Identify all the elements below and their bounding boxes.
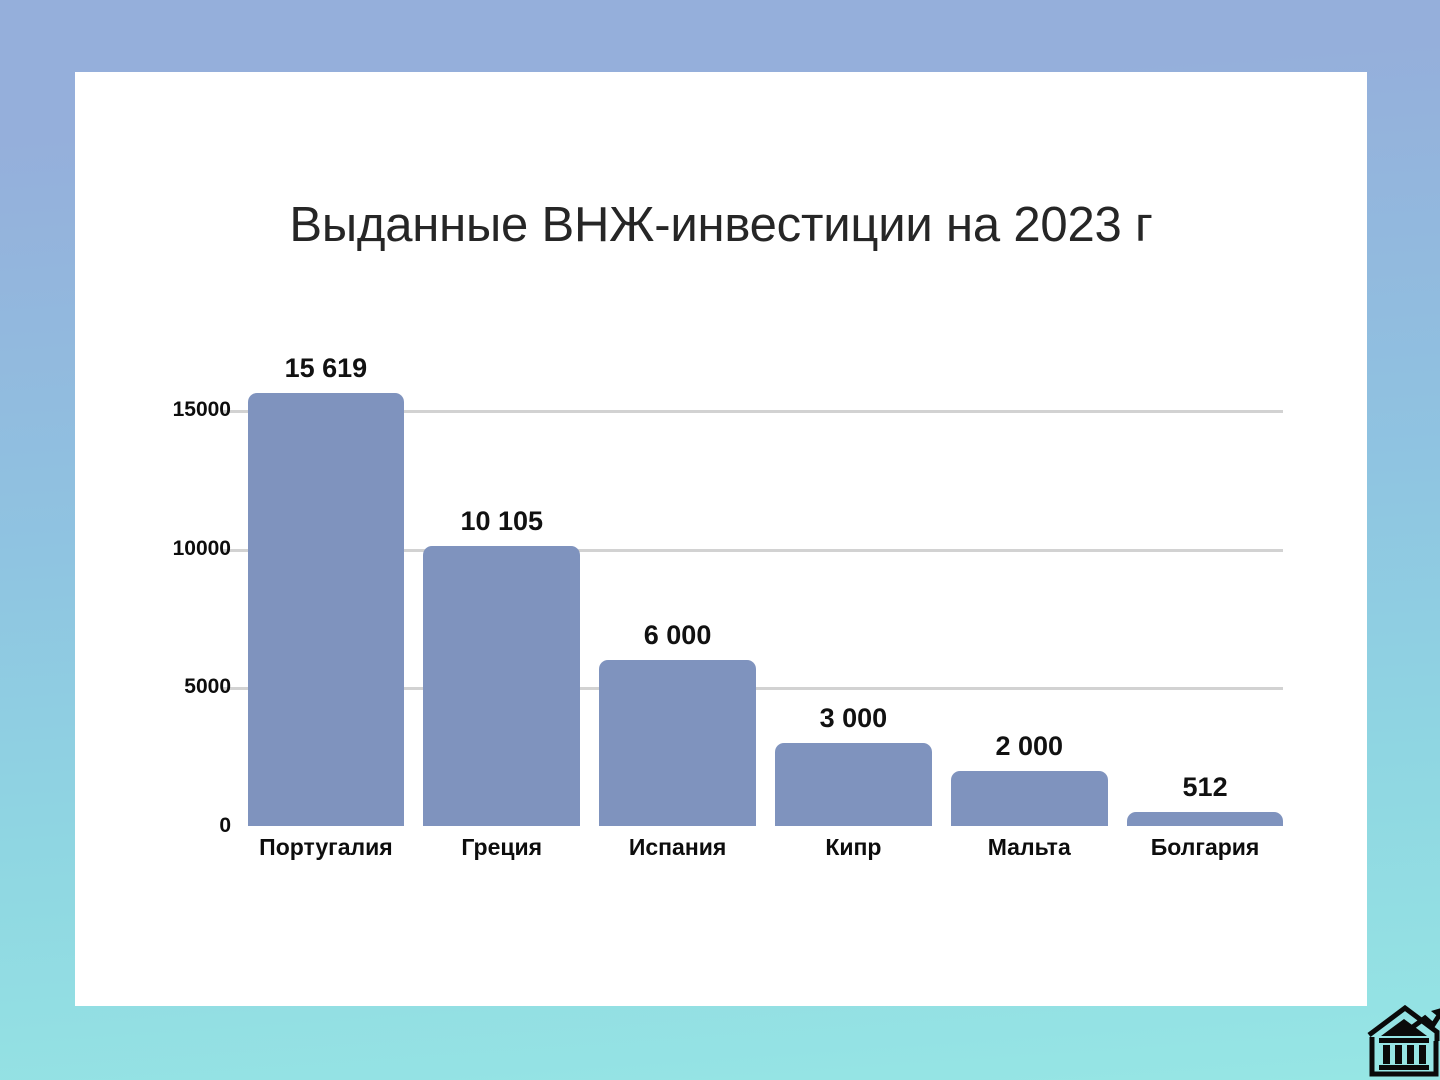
bar[interactable] xyxy=(248,393,405,826)
x-axis-category-label: Португалия xyxy=(259,834,393,861)
bar-group: 15 619Португалия xyxy=(238,382,414,826)
slide-canvas: Выданные ВНЖ-инвестиции на 2023 г 050001… xyxy=(0,0,1440,1080)
bar[interactable] xyxy=(1127,812,1284,826)
bank-building-with-growth-arrow-icon xyxy=(1363,1005,1440,1077)
bar[interactable] xyxy=(775,743,932,826)
bar-value-label: 512 xyxy=(1183,772,1228,803)
bar-value-label: 15 619 xyxy=(285,353,368,384)
bars-container: 15 619Португалия10 105Греция6 000Испания… xyxy=(238,382,1293,826)
x-axis-category-label: Мальта xyxy=(988,834,1071,861)
bar-value-label: 6 000 xyxy=(644,620,712,651)
bar-group: 512Болгария xyxy=(1117,382,1293,826)
y-axis-tick-label: 15000 xyxy=(163,398,231,422)
bar[interactable] xyxy=(423,546,580,826)
x-axis-category-label: Болгария xyxy=(1151,834,1260,861)
chart-title: Выданные ВНЖ-инвестиции на 2023 г xyxy=(75,197,1367,253)
bar-group: 6 000Испания xyxy=(590,382,766,826)
bar-value-label: 3 000 xyxy=(820,703,888,734)
y-axis-tick-label: 10000 xyxy=(163,537,231,561)
vienna-logo: VIENNA PROPERTY INVESTMENT xyxy=(1337,1005,1440,1080)
bar-group: 3 000Кипр xyxy=(766,382,942,826)
content-card: Выданные ВНЖ-инвестиции на 2023 г 050001… xyxy=(75,72,1367,1006)
bar[interactable] xyxy=(599,660,756,827)
bar-chart-plot-area: 050001000015000 15 619Португалия10 105Гр… xyxy=(163,382,1293,882)
bar-value-label: 2 000 xyxy=(995,731,1063,762)
bar-value-label: 10 105 xyxy=(460,506,543,537)
y-axis-tick-label: 0 xyxy=(163,814,231,838)
x-axis-category-label: Кипр xyxy=(825,834,881,861)
y-axis-tick-label: 5000 xyxy=(163,675,231,699)
bar-group: 10 105Греция xyxy=(414,382,590,826)
bar[interactable] xyxy=(951,771,1108,827)
x-axis-category-label: Греция xyxy=(461,834,542,861)
x-axis-category-label: Испания xyxy=(629,834,726,861)
bar-group: 2 000Мальта xyxy=(941,382,1117,826)
